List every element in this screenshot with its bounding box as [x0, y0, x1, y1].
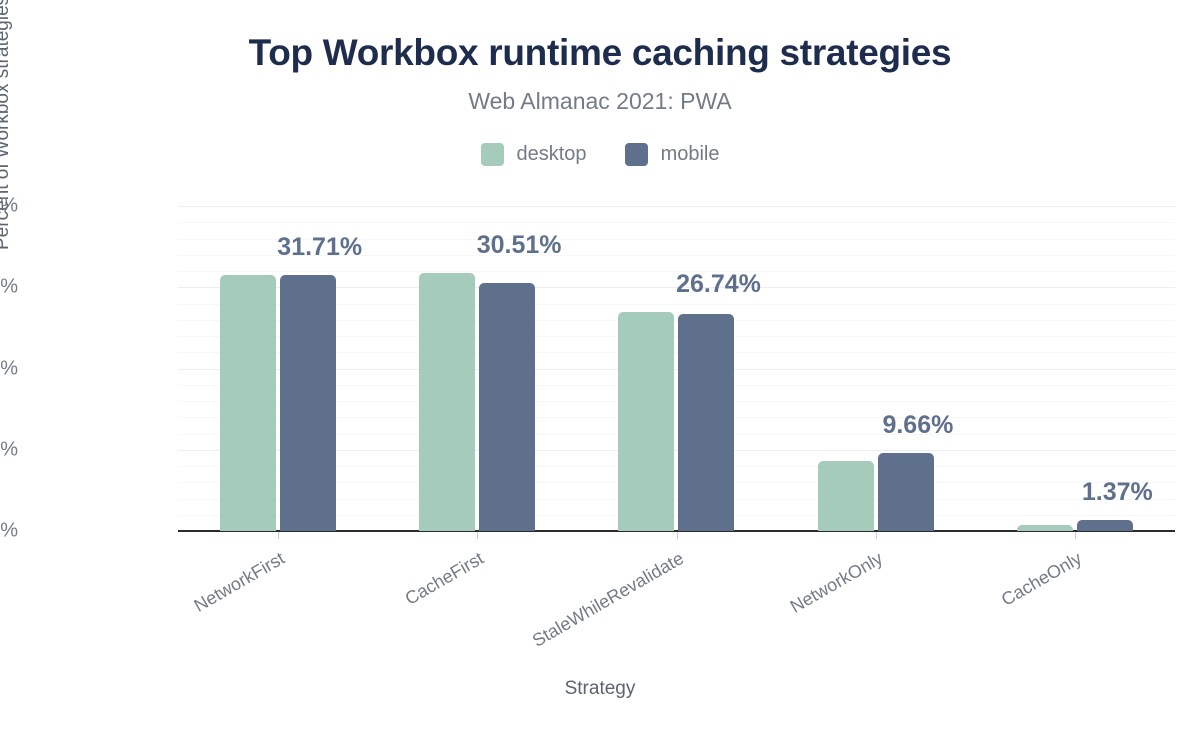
bar-networkonly-desktop[interactable]: [818, 461, 874, 531]
x-axis-tick-mark: [477, 532, 478, 539]
x-axis-tick-mark: [876, 532, 877, 539]
x-axis-tick-mark: [278, 532, 279, 539]
chart-legend: desktopmobile: [0, 143, 1200, 166]
bar-cachefirst-mobile[interactable]: [479, 283, 535, 531]
legend-label-mobile: mobile: [661, 143, 720, 166]
legend-item-desktop[interactable]: desktop: [481, 143, 587, 166]
bar-group-networkonly: [776, 206, 975, 531]
bar-networkfirst-desktop[interactable]: [220, 275, 276, 531]
bar-networkfirst-mobile[interactable]: [280, 275, 336, 531]
bar-cacheonly-mobile[interactable]: [1077, 520, 1133, 531]
legend-label-desktop: desktop: [517, 143, 587, 166]
data-label-cachefirst: 30.51%: [477, 231, 562, 260]
x-axis-tick-mark: [1075, 532, 1076, 539]
y-axis-tick-label: 40.00%: [0, 195, 18, 218]
x-axis-tick-mark: [677, 532, 678, 539]
data-label-networkfirst: 31.71%: [277, 233, 362, 262]
bar-stalewhilerevalidate-desktop[interactable]: [618, 312, 674, 531]
legend-item-mobile[interactable]: mobile: [625, 143, 720, 166]
y-axis-tick-label: 20.00%: [0, 357, 18, 380]
bar-networkonly-mobile[interactable]: [878, 453, 934, 531]
x-axis-title: Strategy: [0, 678, 1200, 700]
bar-cachefirst-desktop[interactable]: [419, 273, 475, 531]
chart-container: Top Workbox runtime caching strategies W…: [0, 0, 1200, 742]
legend-swatch-desktop: [481, 143, 504, 166]
y-axis-tick-label: 10.00%: [0, 438, 18, 461]
bar-stalewhilerevalidate-mobile[interactable]: [678, 314, 734, 531]
bar-cacheonly-desktop[interactable]: [1017, 525, 1073, 531]
data-label-cacheonly: 1.37%: [1082, 478, 1153, 507]
y-axis-tick-label: 0.00%: [0, 520, 18, 543]
bar-group-stalewhilerevalidate: [577, 206, 776, 531]
legend-swatch-mobile: [625, 143, 648, 166]
data-label-stalewhilerevalidate: 26.74%: [676, 270, 761, 299]
chart-subtitle: Web Almanac 2021: PWA: [0, 88, 1200, 115]
chart-title: Top Workbox runtime caching strategies: [0, 32, 1200, 74]
y-axis-tick-label: 30.00%: [0, 276, 18, 299]
data-label-networkonly: 9.66%: [882, 411, 953, 440]
